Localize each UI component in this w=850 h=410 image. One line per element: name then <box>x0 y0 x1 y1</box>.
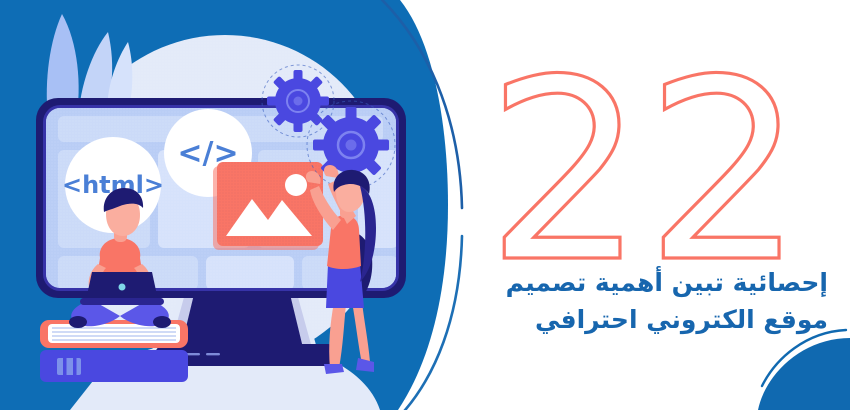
banner-root: <html> </> <box>0 0 850 410</box>
stat-number: 22 <box>0 0 850 410</box>
headline-line-1: إحصائية تبين أهمية تصميم <box>408 265 828 301</box>
headline-line-2: موقع الكتروني احترافي <box>408 302 828 338</box>
